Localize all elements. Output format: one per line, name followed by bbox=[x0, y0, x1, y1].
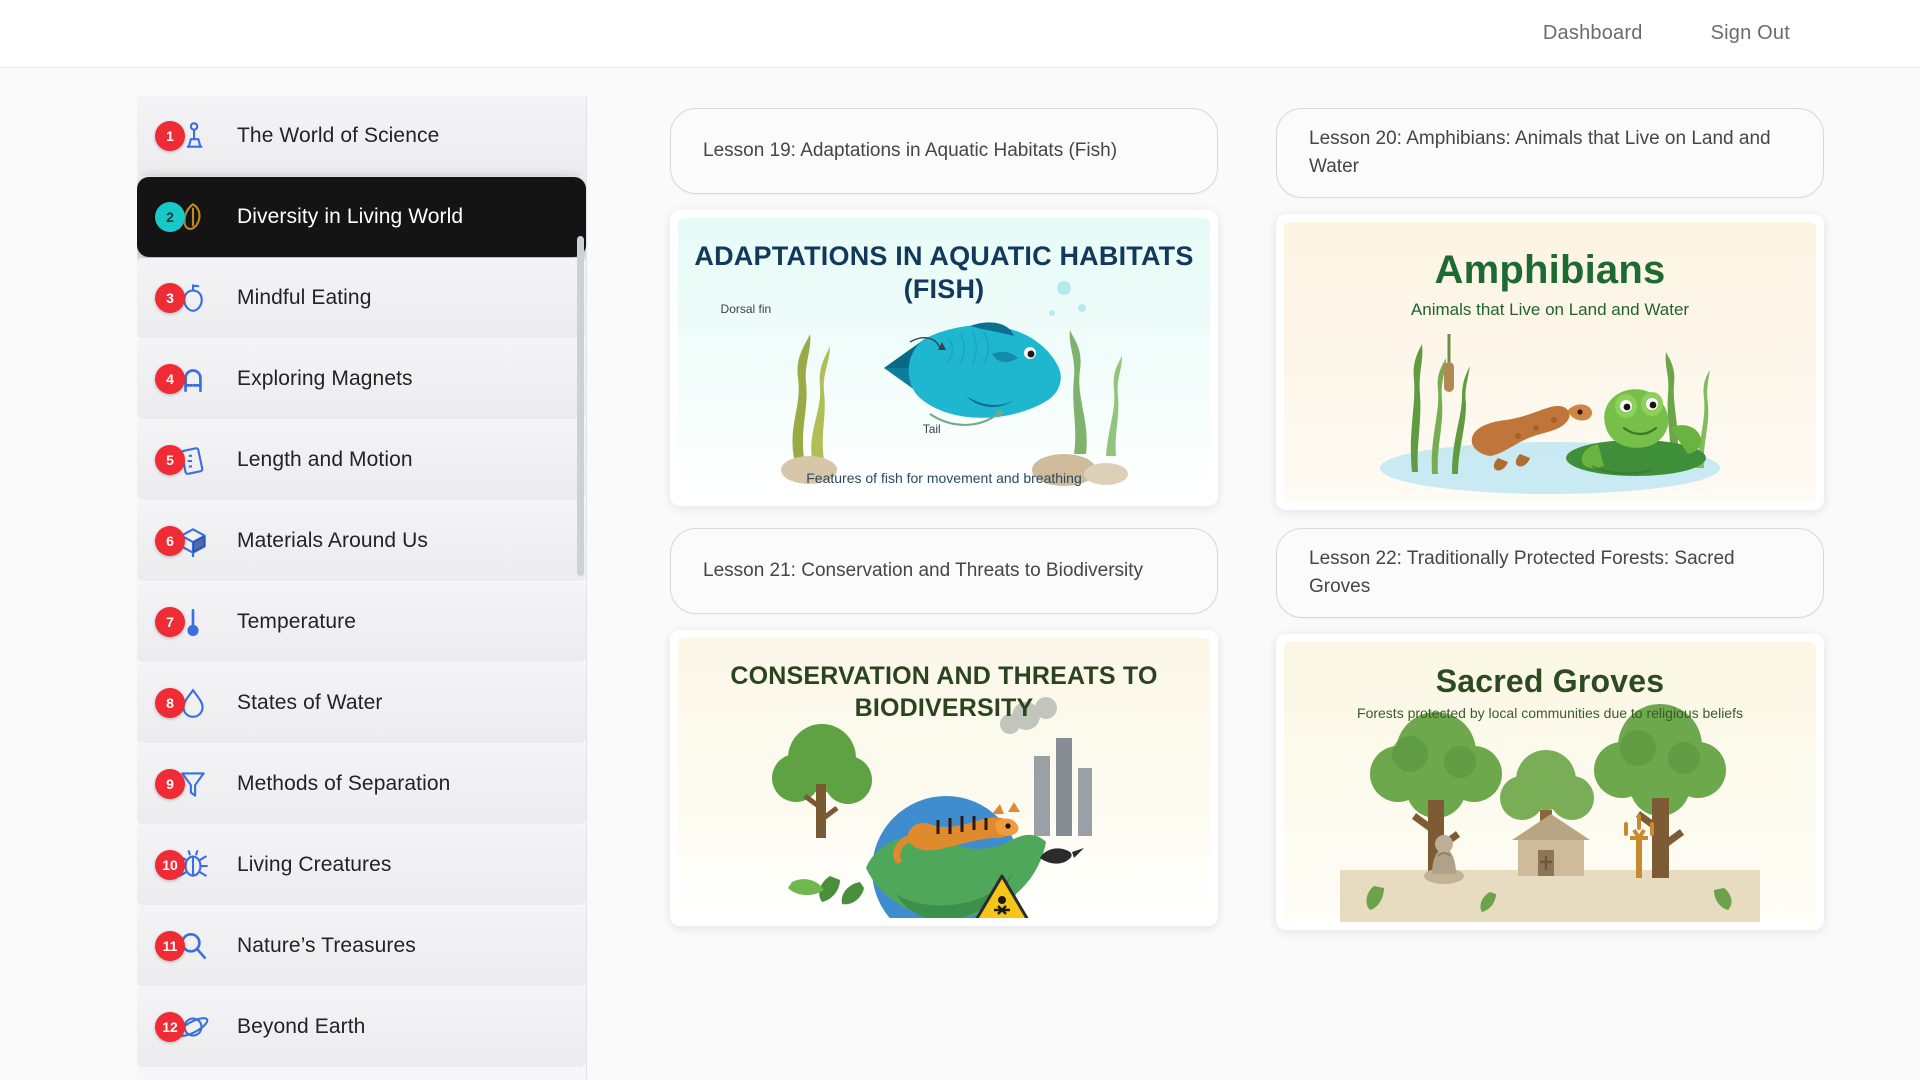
chapter-number-badge: 3 bbox=[155, 283, 185, 313]
nav-links: Dashboard Sign Out bbox=[1509, 12, 1920, 55]
lesson-card: Lesson 22: Traditionally Protected Fores… bbox=[1276, 510, 1824, 930]
chapter-number-badge: 9 bbox=[155, 769, 185, 799]
lesson-card: Lesson 21: Conservation and Threats to B… bbox=[670, 510, 1218, 930]
sidebar-item-diversity-in-living-world[interactable]: 2Diversity in Living World bbox=[137, 177, 586, 257]
lesson-content-area: Lesson 19: Adaptations in Aquatic Habita… bbox=[610, 68, 1920, 1080]
page-body: 1The World of Science2Diversity in Livin… bbox=[0, 68, 1920, 1080]
illustration-caption: Features of fish for movement and breath… bbox=[678, 470, 1210, 486]
sidebar-item-label: Exploring Magnets bbox=[237, 367, 413, 391]
lesson-title[interactable]: Lesson 20: Amphibians: Animals that Live… bbox=[1276, 108, 1824, 198]
illustration-title: ADAPTATIONS IN AQUATIC HABITATS (FISH) bbox=[678, 240, 1210, 306]
sidebar-wrapper: 1The World of Science2Diversity in Livin… bbox=[0, 68, 610, 1080]
chapter-number-badge: 4 bbox=[155, 364, 185, 394]
lesson-illustration: ADAPTATIONS IN AQUATIC HABITATS (FISH)Fe… bbox=[678, 218, 1210, 498]
chapter-number-badge: 6 bbox=[155, 526, 185, 556]
chapter-number-badge: 5 bbox=[155, 445, 185, 475]
lesson-title[interactable]: Lesson 22: Traditionally Protected Fores… bbox=[1276, 528, 1824, 618]
lesson-title[interactable]: Lesson 19: Adaptations in Aquatic Habita… bbox=[670, 108, 1218, 194]
chapter-number-badge: 12 bbox=[155, 1012, 185, 1042]
sidebar-item-label: Living Creatures bbox=[237, 853, 392, 877]
nav-link-dashboard[interactable]: Dashboard bbox=[1509, 12, 1677, 55]
sidebar-item-states-of-water[interactable]: 8States of Water bbox=[137, 663, 586, 743]
sidebar-item-materials-around-us[interactable]: 6Materials Around Us bbox=[137, 501, 586, 581]
sidebar-item-label: Beyond Earth bbox=[237, 1015, 365, 1039]
lesson-card: Lesson 20: Amphibians: Animals that Live… bbox=[1276, 90, 1824, 510]
chapter-number-badge: 1 bbox=[155, 121, 185, 151]
top-navigation-bar: Dashboard Sign Out bbox=[0, 0, 1920, 68]
sidebar-item-methods-of-separation[interactable]: 9Methods of Separation bbox=[137, 744, 586, 824]
sidebar-scrollbar[interactable] bbox=[577, 236, 584, 576]
sidebar-item-label: Length and Motion bbox=[237, 448, 413, 472]
sidebar-item-mindful-eating[interactable]: 3Mindful Eating bbox=[137, 258, 586, 338]
lesson-thumbnail[interactable]: Sacred GrovesForests protected by local … bbox=[1276, 634, 1824, 930]
illustration-subtitle: Forests protected by local communities d… bbox=[1284, 704, 1816, 723]
chapter-number-badge: 7 bbox=[155, 607, 185, 637]
sidebar-item-beyond-earth[interactable]: 12Beyond Earth bbox=[137, 987, 586, 1067]
lesson-grid: Lesson 19: Adaptations in Aquatic Habita… bbox=[670, 90, 1824, 930]
sidebar-item-label: States of Water bbox=[237, 691, 382, 715]
sidebar-item-label: Materials Around Us bbox=[237, 529, 428, 553]
sidebar-item-exploring-magnets[interactable]: 4Exploring Magnets bbox=[137, 339, 586, 419]
lesson-illustration: AmphibiansAnimals that Live on Land and … bbox=[1284, 222, 1816, 502]
illustration-label: Tail bbox=[923, 422, 941, 436]
lesson-illustration: Sacred GrovesForests protected by local … bbox=[1284, 642, 1816, 922]
lesson-card: Lesson 19: Adaptations in Aquatic Habita… bbox=[670, 90, 1218, 510]
chapter-number-badge: 10 bbox=[155, 850, 185, 880]
sidebar-item-label: Diversity in Living World bbox=[237, 205, 463, 229]
illustration-title: CONSERVATION AND THREATS TO BIODIVERSITY bbox=[678, 660, 1210, 724]
lesson-thumbnail[interactable]: CONSERVATION AND THREATS TO BIODIVERSITY bbox=[670, 630, 1218, 926]
sidebar-item-label: Methods of Separation bbox=[237, 772, 450, 796]
sidebar-item-temperature[interactable]: 7Temperature bbox=[137, 582, 586, 662]
lesson-title[interactable]: Lesson 21: Conservation and Threats to B… bbox=[670, 528, 1218, 614]
sidebar-item-living-creatures[interactable]: 10Living Creatures bbox=[137, 825, 586, 905]
sidebar-item-length-and-motion[interactable]: 5Length and Motion bbox=[137, 420, 586, 500]
chapter-number-badge: 8 bbox=[155, 688, 185, 718]
lesson-illustration: CONSERVATION AND THREATS TO BIODIVERSITY bbox=[678, 638, 1210, 918]
chapter-number-badge: 11 bbox=[155, 931, 185, 961]
lesson-thumbnail[interactable]: AmphibiansAnimals that Live on Land and … bbox=[1276, 214, 1824, 510]
sidebar-item-label: Temperature bbox=[237, 610, 356, 634]
chapter-sidebar[interactable]: 1The World of Science2Diversity in Livin… bbox=[137, 96, 587, 1080]
nav-link-sign-out[interactable]: Sign Out bbox=[1677, 12, 1824, 55]
lesson-thumbnail[interactable]: ADAPTATIONS IN AQUATIC HABITATS (FISH)Fe… bbox=[670, 210, 1218, 506]
sidebar-item-the-world-of-science[interactable]: 1The World of Science bbox=[137, 96, 586, 176]
illustration-label: Dorsal fin bbox=[721, 302, 772, 316]
sidebar-item-nature-s-treasures[interactable]: 11Nature’s Treasures bbox=[137, 906, 586, 986]
chapter-number-badge: 2 bbox=[155, 202, 185, 232]
sidebar-item-label: Nature’s Treasures bbox=[237, 934, 416, 958]
illustration-title: Amphibians bbox=[1284, 248, 1816, 292]
sidebar-item-label: Mindful Eating bbox=[237, 286, 371, 310]
sidebar-item-label: The World of Science bbox=[237, 124, 439, 148]
illustration-subtitle: Animals that Live on Land and Water bbox=[1284, 300, 1816, 320]
illustration-title: Sacred Groves bbox=[1284, 662, 1816, 700]
